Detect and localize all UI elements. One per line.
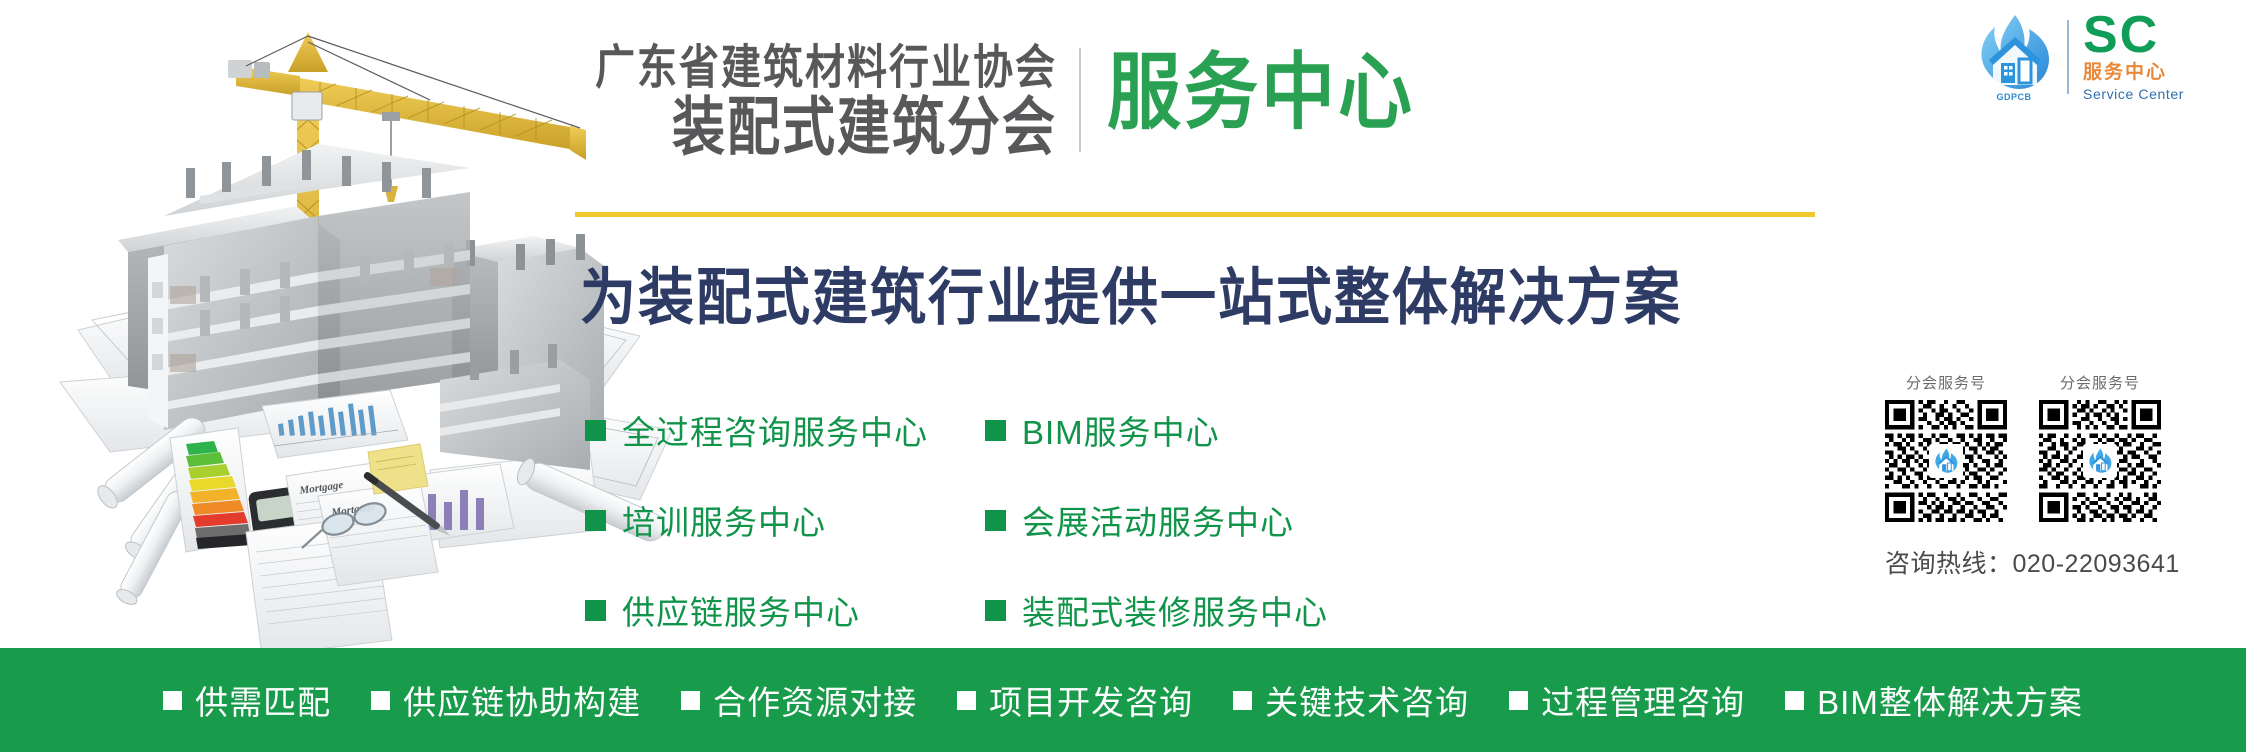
service-label: 全过程咨询服务中心 <box>622 406 928 454</box>
brand-logo-lockup: GDPCB SC 服务中心 Service Center <box>1975 12 2184 103</box>
logo-divider <box>2067 20 2069 94</box>
bottom-tag-bar: 供需匹配 供应链协助构建 合作资源对接 项目开发咨询 关键技术咨询 过程管理咨询… <box>0 648 2246 752</box>
bottom-tag-4[interactable]: 关键技术咨询 <box>1233 676 1469 724</box>
hero-illustration: Mortgage Mortgage <box>0 0 680 648</box>
qr-center-logo <box>2083 444 2117 478</box>
qr-cell-1[interactable]: 分会服务号 <box>2039 372 2161 522</box>
square-bullet-icon <box>585 600 606 621</box>
service-label: BIM服务中心 <box>1022 406 1220 454</box>
gdpcb-caption: GDPCB <box>1975 92 2053 102</box>
construction-scene-icon: Mortgage Mortgage <box>0 0 680 648</box>
logo-wordmark: SC 服务中心 Service Center <box>2083 12 2184 103</box>
qr-block: 分会服务号 <box>1885 372 2180 580</box>
bottom-tag-label: 关键技术咨询 <box>1265 676 1469 724</box>
square-bullet-icon <box>1509 691 1528 710</box>
service-center-title: 服务中心 <box>1081 42 1415 144</box>
square-bullet-icon <box>371 691 390 710</box>
service-label: 装配式装修服务中心 <box>1022 586 1328 634</box>
service-label: 会展活动服务中心 <box>1022 496 1294 544</box>
bottom-tag-0[interactable]: 供需匹配 <box>163 676 331 724</box>
service-item-2[interactable]: 培训服务中心 <box>585 496 985 544</box>
qr-code-image[interactable] <box>1885 400 2007 522</box>
house-flame-icon <box>2087 448 2113 474</box>
qr-cell-0[interactable]: 分会服务号 <box>1885 372 2007 522</box>
qr-caption: 分会服务号 <box>1906 372 1986 393</box>
qr-code-image[interactable] <box>2039 400 2161 522</box>
service-item-1[interactable]: BIM服务中心 <box>985 406 1385 454</box>
banner-root: Mortgage Mortgage <box>0 0 2246 752</box>
yellow-divider-rule <box>575 212 1815 217</box>
square-bullet-icon <box>985 420 1006 441</box>
bottom-tag-label: 项目开发咨询 <box>989 676 1193 724</box>
qr-caption: 分会服务号 <box>2060 372 2140 393</box>
association-names: 广东省建筑材料行业协会 装配式建筑分会 <box>595 42 1079 152</box>
main-headline: 为装配式建筑行业提供一站式整体解决方案 <box>580 248 1682 337</box>
bottom-tag-2[interactable]: 合作资源对接 <box>681 676 917 724</box>
gdpcb-logo-mark: GDPCB <box>1975 13 2053 101</box>
hotline-text: 咨询热线：020-22093641 <box>1885 544 2180 580</box>
bottom-tag-label: 供需匹配 <box>195 676 331 724</box>
service-item-3[interactable]: 会展活动服务中心 <box>985 496 1385 544</box>
bottom-tag-1[interactable]: 供应链协助构建 <box>371 676 641 724</box>
square-bullet-icon <box>1233 691 1252 710</box>
association-name-line2: 装配式建筑分会 <box>672 94 1057 164</box>
sc-chinese-label: 服务中心 <box>2083 61 2167 85</box>
bottom-tag-6[interactable]: BIM整体解决方案 <box>1785 676 2083 724</box>
qr-center-logo <box>1929 444 1963 478</box>
square-bullet-icon <box>985 600 1006 621</box>
service-item-0[interactable]: 全过程咨询服务中心 <box>585 406 985 454</box>
service-label: 供应链服务中心 <box>622 586 860 634</box>
qr-row: 分会服务号 <box>1885 372 2180 522</box>
square-bullet-icon <box>585 510 606 531</box>
bottom-tag-3[interactable]: 项目开发咨询 <box>957 676 1193 724</box>
service-item-5[interactable]: 装配式装修服务中心 <box>985 586 1385 634</box>
square-bullet-icon <box>1785 691 1804 710</box>
association-name-line1: 广东省建筑材料行业协会 <box>595 42 1057 95</box>
sc-english-label: Service Center <box>2083 85 2184 103</box>
energy-rating-chart-icon <box>170 428 252 552</box>
sc-initials: SC <box>2083 12 2159 60</box>
title-block: 广东省建筑材料行业协会 装配式建筑分会 服务中心 <box>595 42 1415 152</box>
bottom-tag-label: BIM整体解决方案 <box>1817 676 2083 724</box>
square-bullet-icon <box>957 691 976 710</box>
bottom-tag-label: 供应链协助构建 <box>403 676 641 724</box>
house-flame-icon <box>1975 13 2053 93</box>
square-bullet-icon <box>985 510 1006 531</box>
bottom-tag-label: 合作资源对接 <box>713 676 917 724</box>
service-label: 培训服务中心 <box>622 496 826 544</box>
service-list: 全过程咨询服务中心 BIM服务中心 培训服务中心 会展活动服务中心 供应链服务中… <box>585 406 1385 634</box>
bottom-tag-5[interactable]: 过程管理咨询 <box>1509 676 1745 724</box>
square-bullet-icon <box>585 420 606 441</box>
house-flame-icon <box>1933 448 1959 474</box>
bottom-tag-label: 过程管理咨询 <box>1541 676 1745 724</box>
square-bullet-icon <box>681 691 700 710</box>
content-column: GDPCB SC 服务中心 Service Center 广东省建筑材料行业协会… <box>690 0 2246 648</box>
square-bullet-icon <box>163 691 182 710</box>
service-item-4[interactable]: 供应链服务中心 <box>585 586 985 634</box>
